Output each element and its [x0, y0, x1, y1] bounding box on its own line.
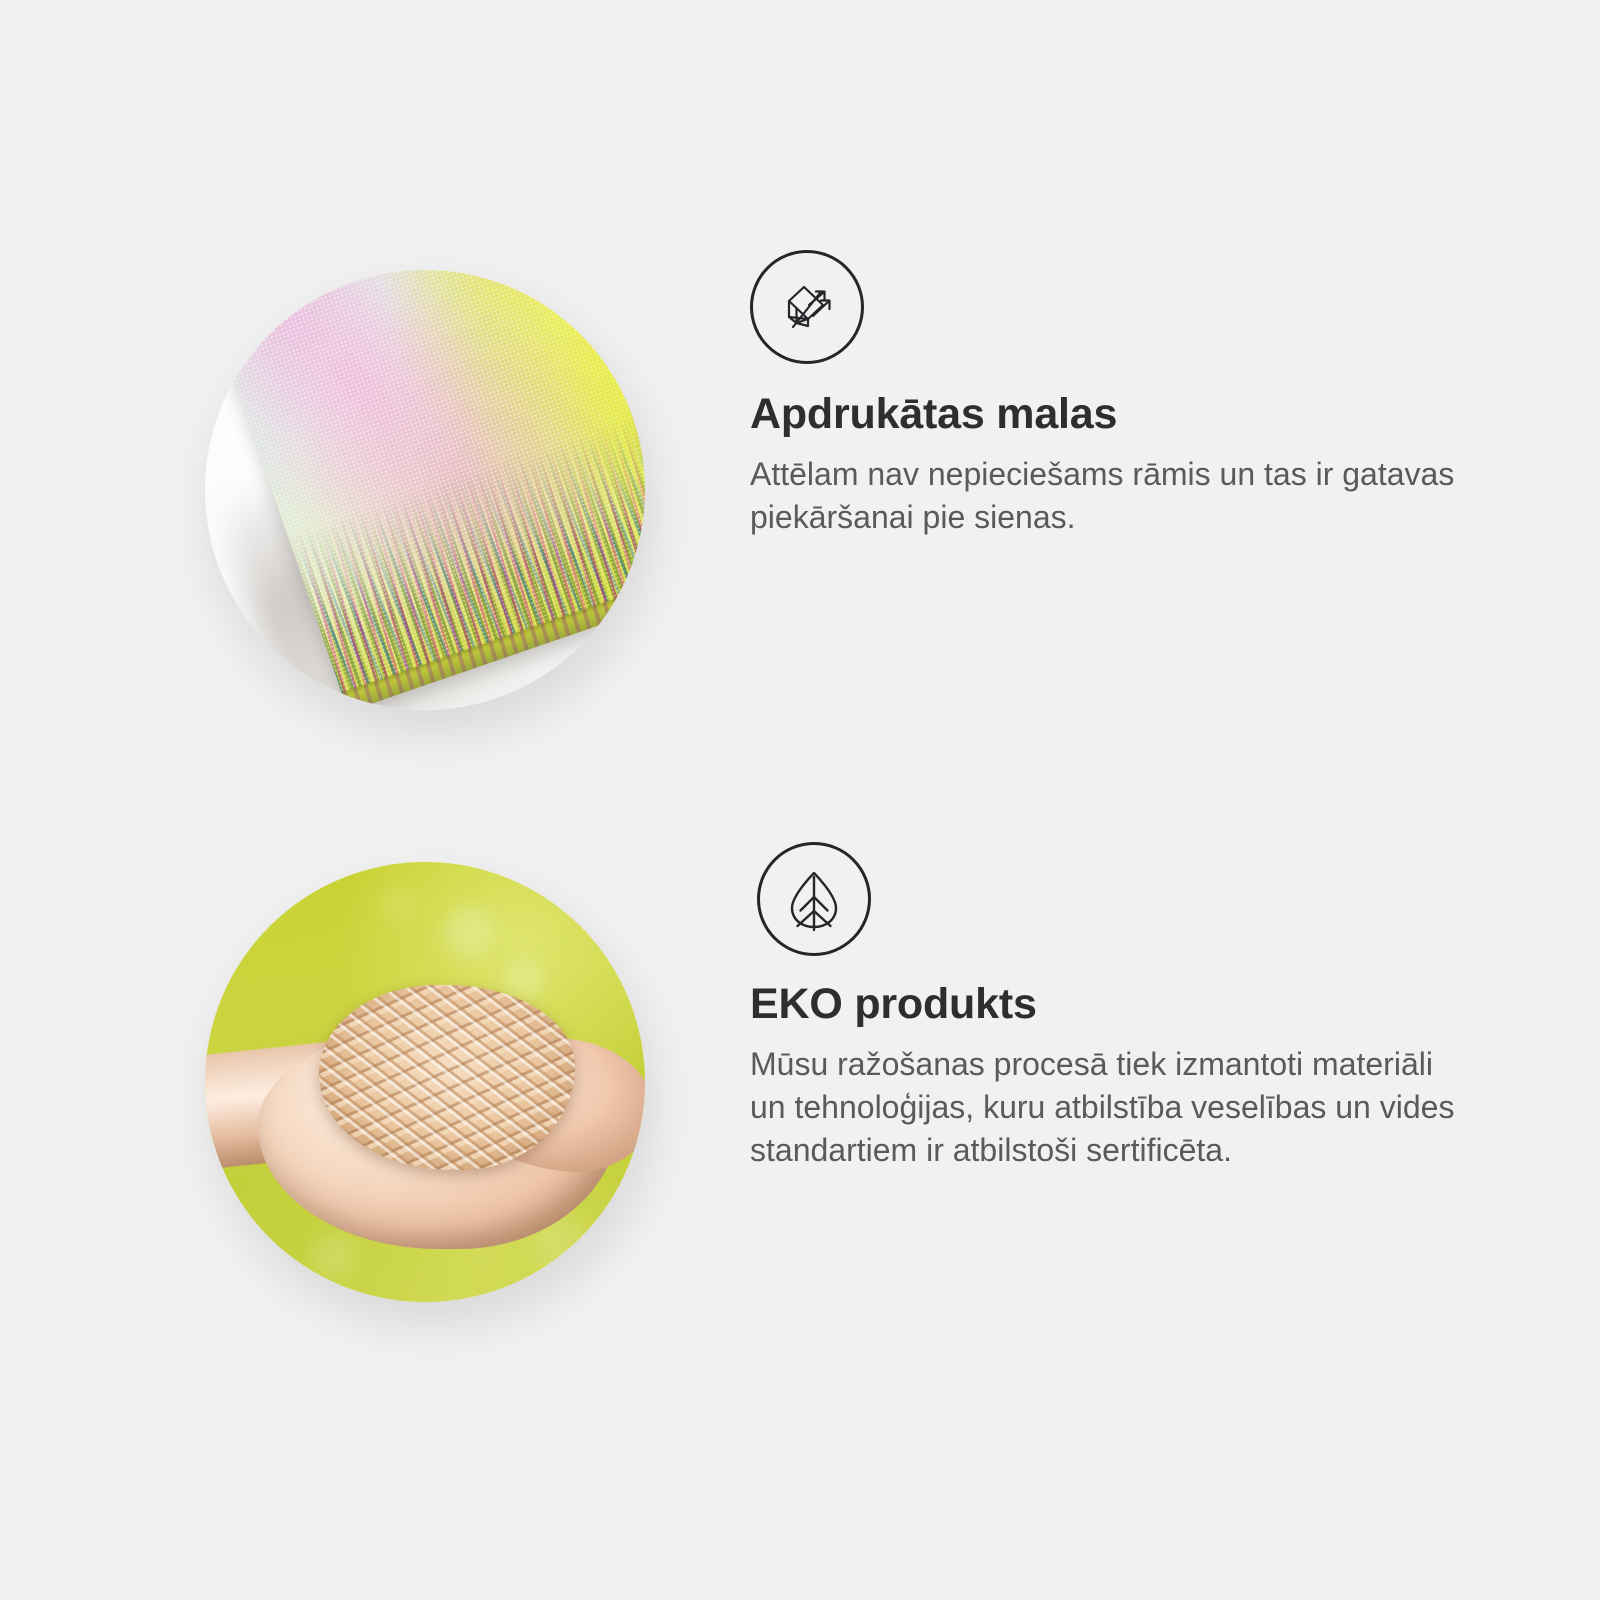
feature-title: EKO produkts — [750, 980, 1490, 1029]
printed-edges-icon — [750, 250, 864, 364]
bokeh-highlight — [443, 906, 495, 958]
feature-title: Apdrukātas malas — [750, 390, 1490, 439]
feature-block-eco-product: EKO produkts Mūsu ražošanas procesā tiek… — [0, 842, 1600, 1342]
photo-circle-mask — [205, 270, 645, 710]
bokeh-highlight — [504, 959, 544, 999]
product-features-panel: Apdrukātas malas Attēlam nav nepieciešam… — [0, 0, 1600, 1600]
bokeh-highlight — [311, 1232, 357, 1278]
wood-chips-in-hands-photo — [205, 862, 645, 1302]
feature-description: Attēlam nav nepieciešams rāmis un tas ir… — [750, 453, 1465, 539]
feature-description: Mūsu ražošanas procesā tiek izmantoti ma… — [750, 1043, 1465, 1172]
photo-circle-mask — [205, 862, 645, 1302]
wood-chips — [319, 985, 574, 1170]
feature-text-printed-edges: Apdrukātas malas Attēlam nav nepieciešam… — [750, 250, 1490, 539]
leaf-icon — [757, 842, 871, 956]
feature-text-eco-product: EKO produkts Mūsu ražošanas procesā tiek… — [750, 842, 1490, 1172]
canvas-corner-photo — [205, 270, 645, 710]
bokeh-highlight — [381, 888, 415, 922]
feature-block-printed-edges: Apdrukātas malas Attēlam nav nepieciešam… — [0, 250, 1600, 770]
